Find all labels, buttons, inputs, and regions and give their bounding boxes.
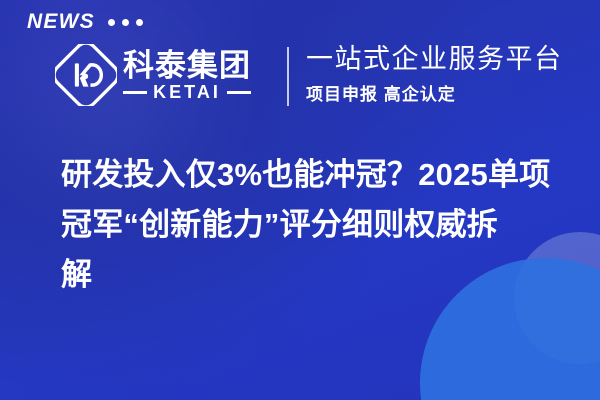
brand-name-en-row: KETAI xyxy=(123,83,251,101)
dot-icon xyxy=(108,19,115,26)
headline-line: 解 xyxy=(61,250,566,300)
banner-content: NEWS xyxy=(0,0,600,400)
headline: 研发投入仅3%也能冲冠？2025单项 冠军“创新能力”评分细则权威拆 解 xyxy=(61,150,566,300)
news-label: NEWS xyxy=(27,11,95,32)
tagline-sub: 项目申报 高企认定 xyxy=(306,80,563,105)
brand-name-en: KETAI xyxy=(153,83,221,101)
brand-rule-right xyxy=(227,91,251,94)
dot-icon xyxy=(122,19,129,26)
brand-name-cn: 科泰集团 xyxy=(123,49,251,82)
news-eyebrow: NEWS xyxy=(27,11,143,32)
vertical-divider xyxy=(287,47,289,106)
headline-line: 冠军“创新能力”评分细则权威拆 xyxy=(61,200,566,250)
brand-text: 科泰集团 KETAI xyxy=(123,49,251,101)
brand-rule-left xyxy=(123,91,147,94)
tagline-block: 一站式企业服务平台 项目申报 高企认定 xyxy=(306,44,563,105)
headline-line: 研发投入仅3%也能冲冠？2025单项 xyxy=(61,150,566,200)
dots-icon xyxy=(108,17,143,26)
ketai-diamond-kd-logo-icon xyxy=(55,44,117,106)
dot-icon xyxy=(136,19,143,26)
news-banner: NEWS xyxy=(0,0,600,400)
tagline-main: 一站式企业服务平台 xyxy=(306,44,563,75)
brand-lockup: 科泰集团 KETAI xyxy=(55,44,251,106)
